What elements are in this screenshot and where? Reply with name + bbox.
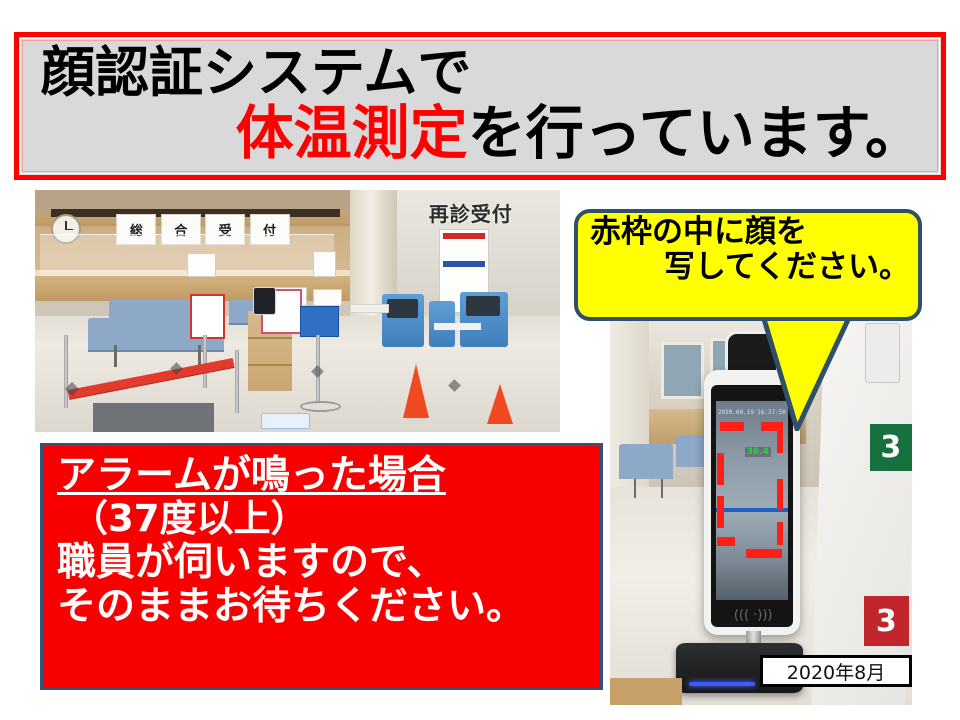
alarm-line-2: （37度以上） xyxy=(57,498,600,540)
notice-poster-blue xyxy=(300,306,339,337)
face-frame-edge-left-upper xyxy=(717,453,723,484)
alarm-line-1-wrapper: アラームが鳴った場合 xyxy=(57,454,600,498)
chair-leg xyxy=(661,479,663,499)
photo-hospital-lobby: 総 合 受 付 再診受付 xyxy=(35,190,560,432)
header-banner: 顔認証システムで 体温測定を行っています。 xyxy=(14,32,946,180)
nfc-reader-icon: ((( ·))) xyxy=(734,608,773,623)
traffic-cone xyxy=(487,384,513,424)
screen-date: 2020.08.19 xyxy=(718,409,754,416)
sign-clip xyxy=(865,323,900,384)
alarm-line-4: そのままお待ちください。 xyxy=(57,585,600,629)
kiosk-screen xyxy=(466,296,500,315)
header-inner: 顔認証システムで 体温測定を行っています。 xyxy=(22,40,938,172)
traffic-cone xyxy=(403,364,429,418)
printer-table xyxy=(350,304,389,313)
sign-red-number: 3 xyxy=(864,596,909,647)
speech-bubble-tail xyxy=(757,309,857,431)
speech-bubble-line-2: 写してください。 xyxy=(590,250,912,285)
sign-revisit-reception: 再診受付 xyxy=(405,202,536,229)
alarm-instruction-box: アラームが鳴った場合 （37度以上） 職員が伺いますので、 そのままお待ちくださ… xyxy=(40,443,603,690)
header-tail-text: を行っています。 xyxy=(468,99,923,167)
chair-leg xyxy=(114,345,117,367)
notice-poster-red xyxy=(190,294,226,339)
header-line-2: 体温測定を行っています。 xyxy=(41,104,927,163)
speech-bubble: 赤枠の中に顔を 写してください。 xyxy=(574,209,922,321)
date-label: 2020年8月 xyxy=(760,655,912,687)
slide-canvas: 顔認証システムで 体温測定を行っています。 総 合 受 付 xyxy=(0,0,960,720)
header-line-1: 顔認証システムで xyxy=(41,45,927,100)
poster-stand-pole xyxy=(203,335,207,388)
entrance-floor-mat xyxy=(93,403,214,432)
face-frame-corner-bottom-right xyxy=(746,549,782,558)
counter-notice xyxy=(187,253,215,277)
poster-stand-base xyxy=(300,401,341,412)
kiosk-screen xyxy=(387,299,419,318)
counter-notice xyxy=(313,289,341,306)
wooden-table-edge xyxy=(610,678,682,705)
face-frame-edge-right-bottom xyxy=(777,522,783,545)
lobby-scanner-device xyxy=(253,287,276,316)
base-status-led xyxy=(689,682,755,686)
printer-table xyxy=(434,323,481,330)
counter-notice xyxy=(313,251,336,277)
wall-artwork xyxy=(661,342,703,399)
chair-leg xyxy=(634,479,636,499)
face-frame-corner-bottom-left xyxy=(717,537,735,546)
belt-post xyxy=(64,335,68,408)
face-frame-edge-right-lower xyxy=(777,479,783,510)
alarm-line-3: 職員が伺いますので、 xyxy=(57,541,600,585)
floor-distance-sticker xyxy=(261,413,310,430)
header-highlight-text: 体温測定 xyxy=(236,99,468,167)
face-frame-corner-top-left xyxy=(720,422,744,431)
speech-bubble-line-1: 赤枠の中に顔を xyxy=(590,215,912,250)
screen-temperature-readout: 36.4 xyxy=(745,447,771,457)
alarm-line-1: アラームが鳴った場合 xyxy=(57,454,446,498)
belt-post xyxy=(235,350,239,413)
sign-green-number: 3 xyxy=(870,424,912,471)
face-frame-edge-left-lower xyxy=(717,496,723,527)
scanner-room-chairs xyxy=(619,444,673,479)
speech-bubble-text: 赤枠の中に顔を 写してください。 xyxy=(574,209,922,321)
